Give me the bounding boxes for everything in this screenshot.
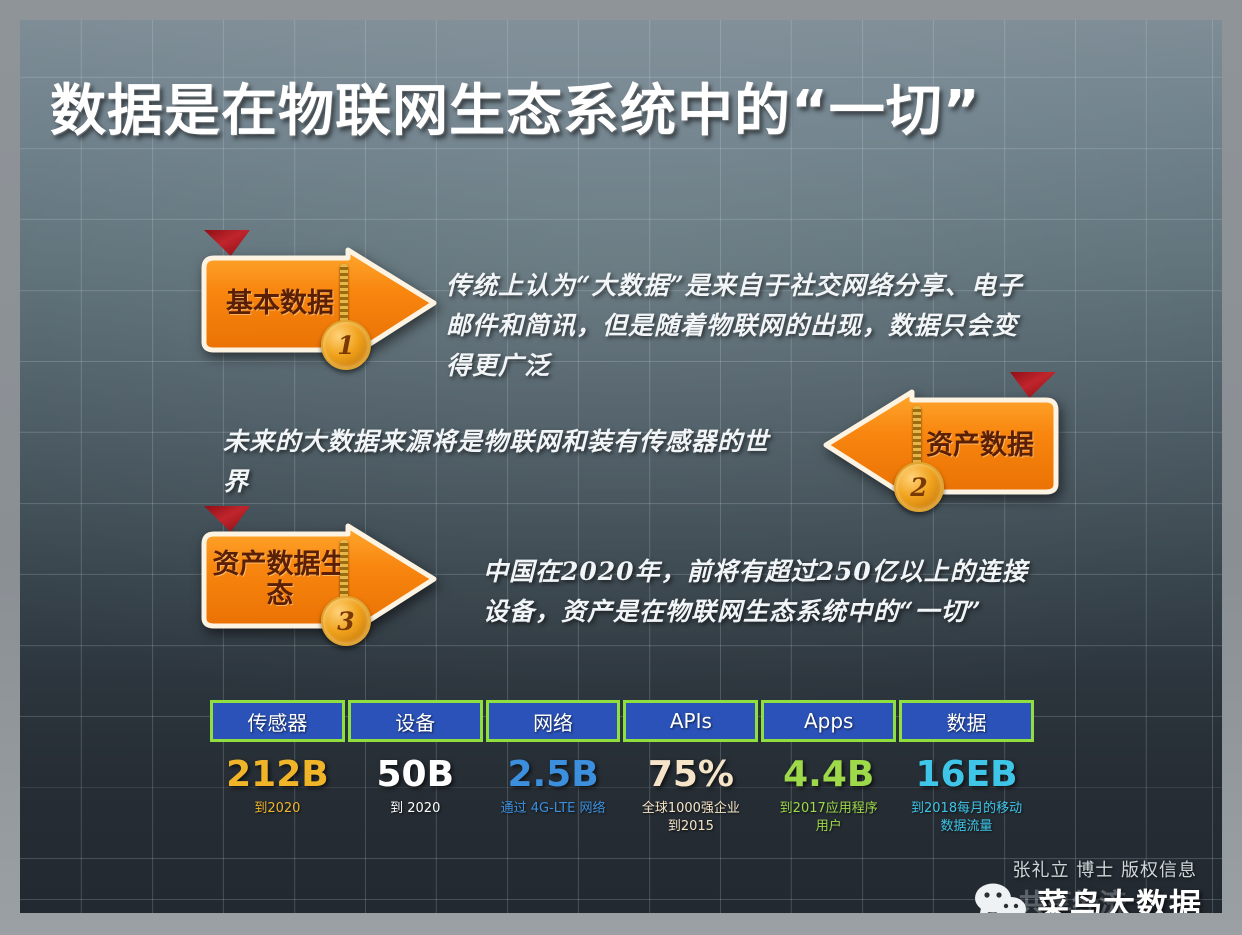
banner-number-badge: 2 [894, 462, 944, 512]
stats-value: 16EB [899, 754, 1034, 796]
banner-asset-data-ecosystem[interactable]: 资产数据生态 3 [198, 522, 440, 637]
page-title: 数据是在物联网生态系统中的“一切” [50, 66, 981, 147]
stats-caption: 到2018每月的移动数据流量 [899, 800, 1034, 836]
banner-asset-data[interactable]: 资产数据 2 [820, 388, 1062, 503]
stats-value: 50B [348, 754, 483, 796]
copyright-credit: 张礼立 博士 版权信息 [1013, 856, 1197, 882]
stats-value: 212B [210, 754, 345, 796]
stats-header-cell[interactable]: 传感器 [210, 700, 345, 742]
chain-icon [340, 264, 348, 328]
slide-canvas: 数据是在物联网生态系统中的“一切” 基本数据 [20, 20, 1222, 913]
wechat-icon [971, 880, 1031, 913]
paragraph-future-data: 未来的大数据来源将是物联网和装有传感器的世界 [223, 422, 793, 502]
chain-icon [340, 540, 348, 604]
paragraph-basic-data: 传统上认为“大数据”是来自于社交网络分享、电子邮件和简讯，但是随着物联网的出现，… [446, 266, 1026, 386]
stats-caption: 全球1000强企业到2015 [623, 800, 758, 836]
stats-table: 传感器 设备 网络 APIs Apps 数据 212B 到2020 50B 到 … [210, 700, 1034, 836]
chain-icon [913, 406, 921, 470]
stats-cell-sensors: 212B 到2020 [210, 754, 345, 836]
stats-header-cell[interactable]: Apps [761, 700, 896, 742]
stats-cell-apis: 75% 全球1000强企业到2015 [623, 754, 758, 836]
stats-value-row: 212B 到2020 50B 到 2020 2.5B 通过 4G-LTE 网络 … [210, 754, 1034, 836]
brand-name: 菜鸟大数据 [1037, 880, 1202, 913]
banner-number-badge: 3 [321, 596, 371, 646]
arrow-shape-right-icon [198, 246, 440, 361]
stats-value: 75% [623, 754, 758, 796]
stats-caption: 到 2020 [348, 800, 483, 818]
banner-basic-data[interactable]: 基本数据 1 [198, 246, 440, 361]
brand-block[interactable]: 菜鸟大数据 [971, 880, 1202, 913]
stats-header-row: 传感器 设备 网络 APIs Apps 数据 [210, 700, 1034, 742]
stats-cell-data: 16EB 到2018每月的移动数据流量 [899, 754, 1034, 836]
banner-number-badge: 1 [321, 320, 371, 370]
stats-value: 4.4B [761, 754, 896, 796]
stats-header-cell[interactable]: 网络 [486, 700, 621, 742]
stats-header-cell[interactable]: 设备 [348, 700, 483, 742]
stats-caption: 通过 4G-LTE 网络 [486, 800, 621, 818]
stats-header-cell[interactable]: APIs [623, 700, 758, 742]
stats-value: 2.5B [486, 754, 621, 796]
stats-caption: 到2017应用程序用户 [761, 800, 896, 836]
page-frame: 数据是在物联网生态系统中的“一切” 基本数据 [0, 0, 1242, 935]
arrow-shape-right-icon [198, 522, 440, 637]
stats-cell-devices: 50B 到 2020 [348, 754, 483, 836]
stats-cell-apps: 4.4B 到2017应用程序用户 [761, 754, 896, 836]
paragraph-china-2020: 中国在2020年，前将有超过250亿以上的连接设备，资产是在物联网生态系统中的“… [483, 552, 1053, 632]
stats-cell-network: 2.5B 通过 4G-LTE 网络 [486, 754, 621, 836]
stats-header-cell[interactable]: 数据 [899, 700, 1034, 742]
stats-caption: 到2020 [210, 800, 345, 818]
